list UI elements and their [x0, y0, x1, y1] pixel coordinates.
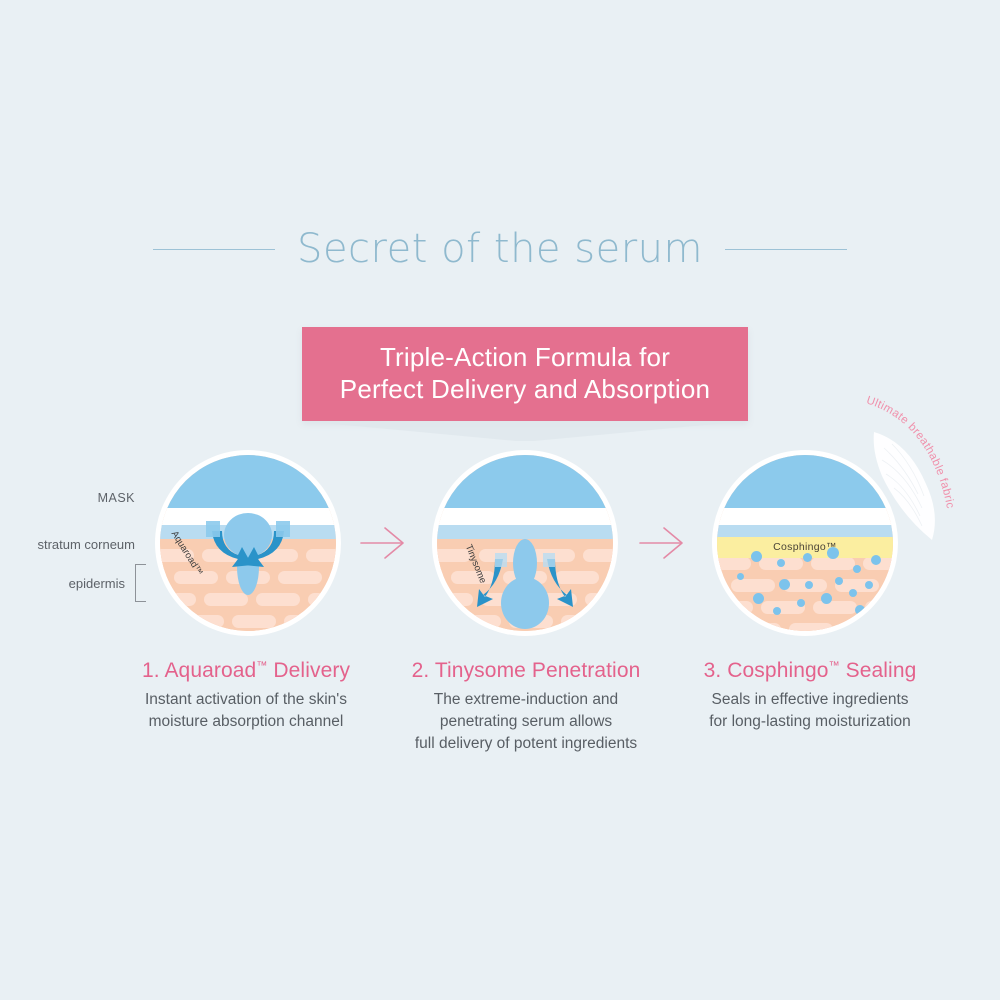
- label-stratum-corneum: stratum corneum: [0, 537, 135, 552]
- step-body-line: Instant activation of the skin's: [96, 689, 396, 711]
- headline-banner-body: Triple-Action Formula for Perfect Delive…: [302, 327, 748, 421]
- step-title-aquaroad: 1. Aquaroad™ Delivery: [96, 652, 396, 685]
- title-rule-right: [725, 249, 847, 250]
- step-brand: Cosphingo: [727, 659, 828, 682]
- step-arrow-1-icon: [359, 520, 409, 566]
- label-epidermis: epidermis: [0, 576, 125, 591]
- step-action: Delivery: [273, 659, 350, 682]
- page-title: Secret of the serum: [297, 226, 703, 272]
- step-number: 3.: [704, 659, 722, 682]
- headline-line-1: Triple-Action Formula for: [302, 341, 748, 373]
- step-body-cosphingo: Seals in effective ingredients for long-…: [660, 689, 960, 733]
- step-caption-aquaroad: 1. Aquaroad™ Delivery Instant activation…: [96, 652, 396, 733]
- tinysome-penetration-graphic: [437, 455, 613, 631]
- step-body-line: The extreme-induction and: [376, 689, 676, 711]
- page-title-row: Secret of the serum: [0, 218, 1000, 280]
- step-number: 1.: [142, 659, 160, 682]
- trademark-mark: ™: [829, 660, 840, 672]
- diagram-circle-tinysome: Tinysome: [437, 455, 613, 631]
- step-brand: Aquaroad: [164, 659, 256, 682]
- step-body-line: for long-lasting moisturization: [660, 711, 960, 733]
- step-body-tinysome: The extreme-induction and penetrating se…: [376, 689, 676, 755]
- infographic-canvas: Secret of the serum Triple-Action Formul…: [0, 0, 1000, 1000]
- label-mask: MASK: [0, 491, 135, 505]
- step-body-aquaroad: Instant activation of the skin's moistur…: [96, 689, 396, 733]
- step-caption-cosphingo: 3. Cosphingo™ Sealing Seals in effective…: [660, 652, 960, 733]
- step-body-line: full delivery of potent ingredients: [376, 733, 676, 755]
- title-rule-left: [153, 249, 275, 250]
- step-body-line: moisture absorption channel: [96, 711, 396, 733]
- step-title-tinysome: 2. Tinysome Penetration: [376, 652, 676, 685]
- step-caption-tinysome: 2. Tinysome Penetration The extreme-indu…: [376, 652, 676, 755]
- diagram-circle-aquaroad: Aquaroad™: [160, 455, 336, 631]
- trademark-mark: ™: [256, 660, 267, 672]
- step-title-cosphingo: 3. Cosphingo™ Sealing: [660, 652, 960, 685]
- step-arrow-2-icon: [638, 520, 688, 566]
- breathable-fabric-graphic: Ultimate breathable fabric: [848, 388, 998, 558]
- headline-line-2: Perfect Delivery and Absorption: [302, 373, 748, 405]
- step-action: Penetration: [532, 659, 641, 682]
- step-number: 2.: [412, 659, 430, 682]
- step-body-line: Seals in effective ingredients: [660, 689, 960, 711]
- banner-ribbon-notch: [302, 421, 748, 441]
- step-brand: Tinysome: [435, 659, 526, 682]
- epidermis-bracket-icon: [135, 564, 146, 602]
- step-body-line: penetrating serum allows: [376, 711, 676, 733]
- step-action: Sealing: [846, 659, 917, 682]
- headline-banner: Triple-Action Formula for Perfect Delive…: [302, 327, 748, 441]
